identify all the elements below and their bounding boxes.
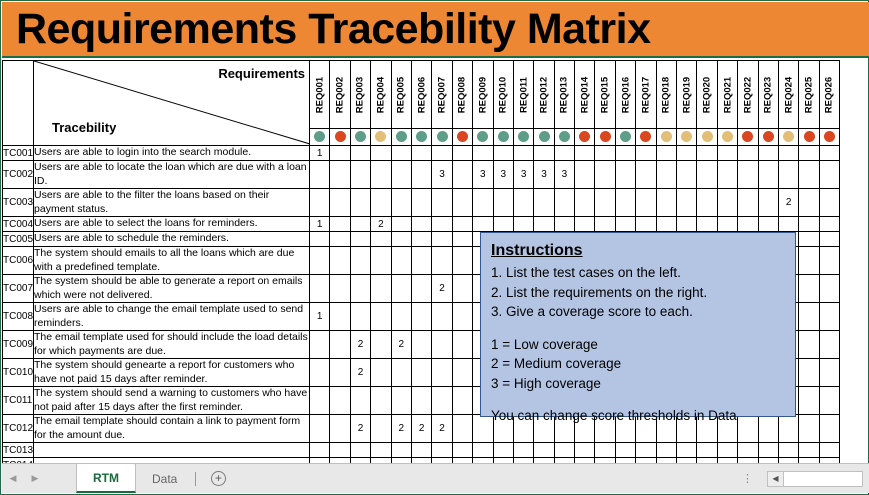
- coverage-score-cell[interactable]: [717, 217, 737, 232]
- coverage-score-cell[interactable]: [310, 387, 330, 415]
- coverage-score-cell[interactable]: [615, 161, 635, 189]
- coverage-score-cell[interactable]: [371, 331, 391, 359]
- testcase-id-cell[interactable]: TC007: [3, 275, 34, 303]
- coverage-score-cell[interactable]: [371, 232, 391, 247]
- coverage-score-cell[interactable]: 3: [513, 161, 533, 189]
- testcase-description-cell[interactable]: [34, 443, 310, 458]
- coverage-score-cell[interactable]: [819, 217, 839, 232]
- coverage-score-cell[interactable]: [534, 146, 554, 161]
- coverage-score-cell[interactable]: [819, 161, 839, 189]
- coverage-score-cell[interactable]: [411, 359, 431, 387]
- coverage-score-cell[interactable]: [452, 189, 472, 217]
- coverage-score-cell[interactable]: [350, 443, 370, 458]
- testcase-description-cell[interactable]: The email template used for should inclu…: [34, 331, 310, 359]
- req-header-label: REQ020: [702, 76, 713, 112]
- coverage-score-cell[interactable]: [758, 189, 778, 217]
- coverage-score-cell[interactable]: [636, 189, 656, 217]
- coverage-score-cell[interactable]: [534, 217, 554, 232]
- coverage-score-cell[interactable]: [575, 217, 595, 232]
- coverage-score-cell[interactable]: [452, 217, 472, 232]
- coverage-score-cell[interactable]: [819, 232, 839, 247]
- coverage-score-cell[interactable]: [779, 217, 799, 232]
- horizontal-scrollbar[interactable]: ◀: [767, 471, 863, 487]
- coverage-score-cell[interactable]: [330, 146, 350, 161]
- coverage-score-cell[interactable]: [411, 443, 431, 458]
- coverage-score-cell[interactable]: [738, 161, 758, 189]
- coverage-score-cell[interactable]: [411, 217, 431, 232]
- coverage-score-cell[interactable]: [330, 415, 350, 443]
- coverage-score-cell[interactable]: [350, 189, 370, 217]
- req-header-req001[interactable]: REQ001: [310, 61, 330, 129]
- testcase-description-cell[interactable]: Users are able to locate the loan which …: [34, 161, 310, 189]
- coverage-score-cell[interactable]: [473, 415, 493, 443]
- coverage-score-cell[interactable]: [799, 443, 819, 458]
- req-status-dot-cell-req018: [656, 129, 676, 146]
- req-header-req010[interactable]: REQ010: [493, 61, 513, 129]
- coverage-score-cell[interactable]: [799, 217, 819, 232]
- coverage-score-cell[interactable]: [391, 232, 411, 247]
- req-header-req003[interactable]: REQ003: [350, 61, 370, 129]
- testcase-description-cell[interactable]: Users are able to login into the search …: [34, 146, 310, 161]
- coverage-score-cell[interactable]: [717, 161, 737, 189]
- coverage-score-cell[interactable]: [391, 146, 411, 161]
- coverage-score-cell[interactable]: [310, 443, 330, 458]
- coverage-score-cell[interactable]: [656, 217, 676, 232]
- coverage-score-cell[interactable]: [595, 146, 615, 161]
- coverage-score-cell[interactable]: [452, 387, 472, 415]
- coverage-score-cell[interactable]: [575, 443, 595, 458]
- coverage-score-cell[interactable]: [330, 247, 350, 275]
- coverage-score-cell[interactable]: [452, 232, 472, 247]
- req-header-req020[interactable]: REQ020: [697, 61, 717, 129]
- coverage-score-cell[interactable]: [493, 217, 513, 232]
- coverage-score-cell[interactable]: [391, 247, 411, 275]
- coverage-score-cell[interactable]: [473, 443, 493, 458]
- coverage-score-cell[interactable]: [391, 189, 411, 217]
- testcase-description-cell[interactable]: Users are able to the filter the loans b…: [34, 189, 310, 217]
- coverage-score-cell[interactable]: [371, 161, 391, 189]
- coverage-score-cell[interactable]: [371, 275, 391, 303]
- coverage-score-cell[interactable]: [432, 189, 452, 217]
- coverage-score-cell[interactable]: [350, 232, 370, 247]
- testcase-description-cell[interactable]: The email template should contain a link…: [34, 415, 310, 443]
- req-header-label: REQ007: [437, 76, 448, 112]
- testcase-description-cell[interactable]: Users are able to change the email templ…: [34, 303, 310, 331]
- coverage-score-cell[interactable]: 1: [310, 146, 330, 161]
- coverage-score-cell[interactable]: [615, 146, 635, 161]
- coverage-score-cell[interactable]: [432, 217, 452, 232]
- instructions-heading: Instructions: [491, 240, 785, 262]
- req-header-req011[interactable]: REQ011: [513, 61, 533, 129]
- coverage-score-cell[interactable]: [554, 189, 574, 217]
- coverage-score-cell[interactable]: [656, 443, 676, 458]
- coverage-score-cell[interactable]: [493, 189, 513, 217]
- coverage-score-cell[interactable]: 2: [391, 415, 411, 443]
- coverage-score-cell[interactable]: [697, 146, 717, 161]
- req-header-req025[interactable]: REQ025: [799, 61, 819, 129]
- coverage-score-cell[interactable]: [493, 443, 513, 458]
- req-status-dot-cell-req016: [615, 129, 635, 146]
- coverage-score-cell[interactable]: [330, 161, 350, 189]
- coverage-score-cell[interactable]: [411, 232, 431, 247]
- coverage-score-cell[interactable]: [411, 146, 431, 161]
- req-header-req017[interactable]: REQ017: [636, 61, 656, 129]
- coverage-score-cell[interactable]: [411, 387, 431, 415]
- req-header-req006[interactable]: REQ006: [411, 61, 431, 129]
- req-header-req013[interactable]: REQ013: [554, 61, 574, 129]
- coverage-score-cell[interactable]: [779, 161, 799, 189]
- coverage-score-cell[interactable]: 2: [411, 415, 431, 443]
- coverage-score-cell[interactable]: 1: [310, 303, 330, 331]
- coverage-score-cell[interactable]: [677, 217, 697, 232]
- coverage-score-cell[interactable]: [819, 303, 839, 331]
- coverage-score-cell[interactable]: [819, 359, 839, 387]
- coverage-score-cell[interactable]: [575, 146, 595, 161]
- coverage-score-cell[interactable]: [799, 161, 819, 189]
- testcase-description-cell[interactable]: Users are able to select the loans for r…: [34, 217, 310, 232]
- coverage-score-cell[interactable]: 2: [779, 189, 799, 217]
- scroll-left-icon[interactable]: ◀: [768, 472, 784, 486]
- coverage-score-cell[interactable]: [554, 146, 574, 161]
- coverage-score-cell[interactable]: [513, 146, 533, 161]
- testcase-id-cell[interactable]: TC002: [3, 161, 34, 189]
- coverage-score-cell[interactable]: [350, 161, 370, 189]
- coverage-score-cell[interactable]: [432, 247, 452, 275]
- coverage-score-cell[interactable]: [411, 247, 431, 275]
- testcase-description-cell[interactable]: The system should genearte a report for …: [34, 359, 310, 387]
- next-sheet-arrow-icon[interactable]: ▶: [32, 473, 39, 484]
- status-dot-green-icon: [355, 131, 366, 142]
- coverage-score-cell[interactable]: [371, 359, 391, 387]
- coverage-score-cell[interactable]: [697, 161, 717, 189]
- coverage-score-cell[interactable]: [697, 189, 717, 217]
- coverage-score-cell[interactable]: [350, 387, 370, 415]
- add-sheet-button[interactable]: +: [198, 464, 238, 493]
- coverage-score-cell[interactable]: [656, 146, 676, 161]
- coverage-score-cell[interactable]: [636, 443, 656, 458]
- coverage-score-cell[interactable]: [350, 303, 370, 331]
- coverage-score-cell[interactable]: [799, 146, 819, 161]
- testcase-id-cell[interactable]: TC010: [3, 359, 34, 387]
- coverage-score-cell[interactable]: [473, 217, 493, 232]
- coverage-score-cell[interactable]: [717, 443, 737, 458]
- testcase-id-cell[interactable]: TC001: [3, 146, 34, 161]
- req-header-req023[interactable]: REQ023: [758, 61, 778, 129]
- coverage-score-cell[interactable]: [452, 146, 472, 161]
- req-status-dot-cell-req026: [819, 129, 839, 146]
- coverage-score-cell[interactable]: 3: [473, 161, 493, 189]
- coverage-score-cell[interactable]: [432, 232, 452, 247]
- coverage-score-cell[interactable]: [779, 146, 799, 161]
- req-header-label: REQ006: [416, 76, 427, 112]
- status-dot-green-icon: [518, 131, 529, 142]
- req-header-req022[interactable]: REQ022: [738, 61, 758, 129]
- coverage-score-cell[interactable]: [371, 387, 391, 415]
- coverage-score-cell[interactable]: [819, 443, 839, 458]
- coverage-score-cell[interactable]: [452, 161, 472, 189]
- instructions-step-2: 2. List the requirements on the right.: [491, 283, 785, 303]
- coverage-score-cell[interactable]: [452, 359, 472, 387]
- req-header-req019[interactable]: REQ019: [677, 61, 697, 129]
- testcase-id-cell[interactable]: TC011: [3, 387, 34, 415]
- req-status-dot-cell-req017: [636, 129, 656, 146]
- coverage-score-cell[interactable]: [432, 387, 452, 415]
- req-status-dot-cell-req001: [310, 129, 330, 146]
- coverage-score-cell[interactable]: [452, 415, 472, 443]
- coverage-score-cell[interactable]: [819, 415, 839, 443]
- coverage-score-cell[interactable]: [636, 161, 656, 189]
- coverage-score-cell[interactable]: [758, 161, 778, 189]
- req-header-req014[interactable]: REQ014: [575, 61, 595, 129]
- coverage-score-cell[interactable]: [697, 443, 717, 458]
- coverage-score-cell[interactable]: [310, 275, 330, 303]
- status-dot-amber-icon: [681, 131, 692, 142]
- status-dot-amber-icon: [375, 131, 386, 142]
- coverage-score-cell[interactable]: [330, 217, 350, 232]
- coverage-score-cell[interactable]: [452, 303, 472, 331]
- coverage-score-cell[interactable]: [371, 247, 391, 275]
- coverage-score-cell[interactable]: [799, 232, 819, 247]
- coverage-score-cell[interactable]: [330, 189, 350, 217]
- req-header-req002[interactable]: REQ002: [330, 61, 350, 129]
- coverage-score-cell[interactable]: [473, 146, 493, 161]
- coverage-score-cell[interactable]: [636, 146, 656, 161]
- req-header-req012[interactable]: REQ012: [534, 61, 554, 129]
- testcase-description-cell[interactable]: The system should emails to all the loan…: [34, 247, 310, 275]
- coverage-score-cell[interactable]: [452, 275, 472, 303]
- coverage-score-cell[interactable]: [595, 189, 615, 217]
- testcase-id-cell[interactable]: TC005: [3, 232, 34, 247]
- coverage-score-cell[interactable]: [595, 161, 615, 189]
- coverage-score-cell[interactable]: 3: [554, 161, 574, 189]
- coverage-score-cell[interactable]: [452, 443, 472, 458]
- coverage-score-cell[interactable]: [350, 275, 370, 303]
- coverage-score-cell[interactable]: [819, 331, 839, 359]
- coverage-score-cell[interactable]: [738, 443, 758, 458]
- testcase-description-cell[interactable]: Users are able to schedule the reminders…: [34, 232, 310, 247]
- coverage-score-cell[interactable]: [819, 189, 839, 217]
- coverage-score-cell[interactable]: [799, 247, 819, 275]
- coverage-score-cell[interactable]: [799, 303, 819, 331]
- req-header-req021[interactable]: REQ021: [717, 61, 737, 129]
- coverage-score-cell[interactable]: [391, 275, 411, 303]
- req-header-req004[interactable]: REQ004: [371, 61, 391, 129]
- status-dot-red-icon: [600, 131, 611, 142]
- coverage-score-cell[interactable]: [595, 217, 615, 232]
- coverage-score-cell[interactable]: [330, 359, 350, 387]
- coverage-score-cell[interactable]: [738, 217, 758, 232]
- coverage-score-cell[interactable]: [350, 247, 370, 275]
- coverage-score-cell[interactable]: [677, 189, 697, 217]
- testcase-description-cell[interactable]: The system should send a warning to cust…: [34, 387, 310, 415]
- req-status-dot-cell-req013: [554, 129, 574, 146]
- coverage-score-cell[interactable]: [432, 359, 452, 387]
- coverage-score-cell[interactable]: [330, 303, 350, 331]
- req-header-req005[interactable]: REQ005: [391, 61, 411, 129]
- coverage-score-cell[interactable]: [473, 189, 493, 217]
- coverage-score-cell[interactable]: [371, 146, 391, 161]
- coverage-score-cell[interactable]: [310, 415, 330, 443]
- coverage-score-cell[interactable]: [636, 217, 656, 232]
- coverage-score-cell[interactable]: [432, 146, 452, 161]
- coverage-score-cell[interactable]: [534, 443, 554, 458]
- req-status-dot-cell-req009: [473, 129, 493, 146]
- testcase-id-cell[interactable]: TC008: [3, 303, 34, 331]
- coverage-score-cell[interactable]: [411, 161, 431, 189]
- coverage-score-cell[interactable]: [758, 443, 778, 458]
- coverage-score-cell[interactable]: [432, 303, 452, 331]
- coverage-score-cell[interactable]: [371, 189, 391, 217]
- testcase-id-cell[interactable]: TC006: [3, 247, 34, 275]
- req-header-req026[interactable]: REQ026: [819, 61, 839, 129]
- coverage-score-cell[interactable]: [677, 146, 697, 161]
- coverage-score-cell[interactable]: [310, 331, 330, 359]
- coverage-score-cell[interactable]: [432, 331, 452, 359]
- coverage-score-cell[interactable]: 3: [493, 161, 513, 189]
- coverage-score-cell[interactable]: [799, 331, 819, 359]
- coverage-score-cell[interactable]: [513, 443, 533, 458]
- coverage-score-cell[interactable]: 2: [350, 359, 370, 387]
- coverage-score-cell[interactable]: 2: [391, 331, 411, 359]
- status-dot-red-icon: [824, 131, 835, 142]
- req-header-req018[interactable]: REQ018: [656, 61, 676, 129]
- req-header-req007[interactable]: REQ007: [432, 61, 452, 129]
- coverage-score-cell[interactable]: [310, 161, 330, 189]
- coverage-score-cell[interactable]: [656, 161, 676, 189]
- coverage-score-cell[interactable]: [575, 189, 595, 217]
- req-status-dot-cell-req024: [779, 129, 799, 146]
- coverage-score-cell[interactable]: [554, 443, 574, 458]
- coverage-score-cell[interactable]: [799, 359, 819, 387]
- status-dot-green-icon: [416, 131, 427, 142]
- coverage-score-cell[interactable]: [615, 443, 635, 458]
- coverage-score-cell[interactable]: [513, 217, 533, 232]
- coverage-score-cell[interactable]: [310, 247, 330, 275]
- req-status-dot-cell-req011: [513, 129, 533, 146]
- coverage-score-cell[interactable]: [330, 275, 350, 303]
- coverage-score-cell[interactable]: [738, 146, 758, 161]
- coverage-score-cell[interactable]: [799, 275, 819, 303]
- coverage-score-cell[interactable]: [534, 189, 554, 217]
- req-header-req016[interactable]: REQ016: [615, 61, 635, 129]
- coverage-score-cell[interactable]: [391, 161, 411, 189]
- table-row: TC013: [3, 443, 840, 458]
- scrollbar-thumb[interactable]: [784, 472, 862, 486]
- coverage-score-cell[interactable]: 3: [534, 161, 554, 189]
- req-header-label: REQ017: [640, 76, 651, 112]
- coverage-score-cell[interactable]: [411, 275, 431, 303]
- coverage-score-cell[interactable]: [310, 189, 330, 217]
- coverage-score-cell[interactable]: [452, 247, 472, 275]
- req-header-req015[interactable]: REQ015: [595, 61, 615, 129]
- testcase-id-cell[interactable]: TC012: [3, 415, 34, 443]
- prev-sheet-arrow-icon[interactable]: ◀: [10, 473, 17, 484]
- coverage-score-cell[interactable]: [330, 331, 350, 359]
- testcase-description-cell[interactable]: The system should be able to generate a …: [34, 275, 310, 303]
- coverage-score-cell[interactable]: [350, 217, 370, 232]
- testcase-id-cell[interactable]: TC009: [3, 331, 34, 359]
- req-header-req008[interactable]: REQ008: [452, 61, 472, 129]
- coverage-score-cell[interactable]: [432, 443, 452, 458]
- table-row: TC002Users are able to locate the loan w…: [3, 161, 840, 189]
- tab-split-grip-icon[interactable]: ⋮: [742, 472, 753, 485]
- coverage-score-cell[interactable]: [779, 443, 799, 458]
- req-header-label: REQ002: [335, 76, 346, 112]
- coverage-score-cell[interactable]: [717, 189, 737, 217]
- coverage-score-cell[interactable]: [411, 331, 431, 359]
- coverage-score-cell[interactable]: [411, 303, 431, 331]
- coverage-score-cell[interactable]: [310, 232, 330, 247]
- coverage-score-cell[interactable]: [575, 161, 595, 189]
- instructions-footer-note: You can change score thresholds in Data: [491, 406, 785, 426]
- coverage-score-cell[interactable]: [330, 443, 350, 458]
- coverage-score-cell[interactable]: [717, 146, 737, 161]
- coverage-score-cell[interactable]: [819, 387, 839, 415]
- coverage-score-cell[interactable]: [554, 217, 574, 232]
- coverage-score-cell[interactable]: 2: [432, 275, 452, 303]
- req-header-label: REQ003: [355, 76, 366, 112]
- coverage-score-cell[interactable]: [391, 303, 411, 331]
- coverage-score-cell[interactable]: [391, 443, 411, 458]
- coverage-score-cell[interactable]: [819, 146, 839, 161]
- coverage-score-cell[interactable]: [310, 359, 330, 387]
- coverage-score-cell[interactable]: [391, 387, 411, 415]
- coverage-score-cell[interactable]: [738, 189, 758, 217]
- coverage-score-cell[interactable]: [799, 387, 819, 415]
- sheet-tab-data[interactable]: Data: [136, 464, 193, 493]
- coverage-score-cell[interactable]: [697, 217, 717, 232]
- coverage-score-cell[interactable]: 2: [432, 415, 452, 443]
- coverage-score-cell[interactable]: [411, 189, 431, 217]
- coverage-score-cell[interactable]: [656, 189, 676, 217]
- coverage-score-cell[interactable]: [350, 146, 370, 161]
- sheet-tab-rtm[interactable]: RTM: [76, 463, 136, 493]
- testcase-id-cell[interactable]: TC003: [3, 189, 34, 217]
- req-header-req024[interactable]: REQ024: [779, 61, 799, 129]
- coverage-score-cell[interactable]: 2: [350, 331, 370, 359]
- coverage-score-cell[interactable]: [758, 217, 778, 232]
- coverage-score-cell[interactable]: [452, 331, 472, 359]
- coverage-score-cell[interactable]: [330, 387, 350, 415]
- coverage-score-cell[interactable]: [819, 275, 839, 303]
- coverage-score-cell[interactable]: 2: [371, 217, 391, 232]
- coverage-score-cell[interactable]: [615, 189, 635, 217]
- coverage-score-cell[interactable]: 1: [310, 217, 330, 232]
- coverage-score-cell[interactable]: [371, 303, 391, 331]
- coverage-score-cell[interactable]: [371, 415, 391, 443]
- coverage-score-cell[interactable]: [493, 146, 513, 161]
- coverage-score-cell[interactable]: [799, 415, 819, 443]
- testcase-id-cell[interactable]: TC013: [3, 443, 34, 458]
- coverage-score-cell[interactable]: [677, 161, 697, 189]
- coverage-score-cell[interactable]: [391, 359, 411, 387]
- coverage-score-cell[interactable]: 3: [432, 161, 452, 189]
- coverage-score-cell[interactable]: [677, 443, 697, 458]
- status-dot-green-icon: [498, 131, 509, 142]
- req-header-req009[interactable]: REQ009: [473, 61, 493, 129]
- coverage-score-cell[interactable]: 2: [350, 415, 370, 443]
- coverage-score-cell[interactable]: [595, 443, 615, 458]
- coverage-score-cell[interactable]: [799, 189, 819, 217]
- coverage-score-cell[interactable]: [615, 217, 635, 232]
- coverage-score-cell[interactable]: [819, 247, 839, 275]
- testcase-id-cell[interactable]: TC004: [3, 217, 34, 232]
- coverage-score-cell[interactable]: [513, 189, 533, 217]
- coverage-score-cell[interactable]: [371, 443, 391, 458]
- coverage-score-cell[interactable]: [330, 232, 350, 247]
- coverage-score-cell[interactable]: [391, 217, 411, 232]
- coverage-score-cell[interactable]: [758, 146, 778, 161]
